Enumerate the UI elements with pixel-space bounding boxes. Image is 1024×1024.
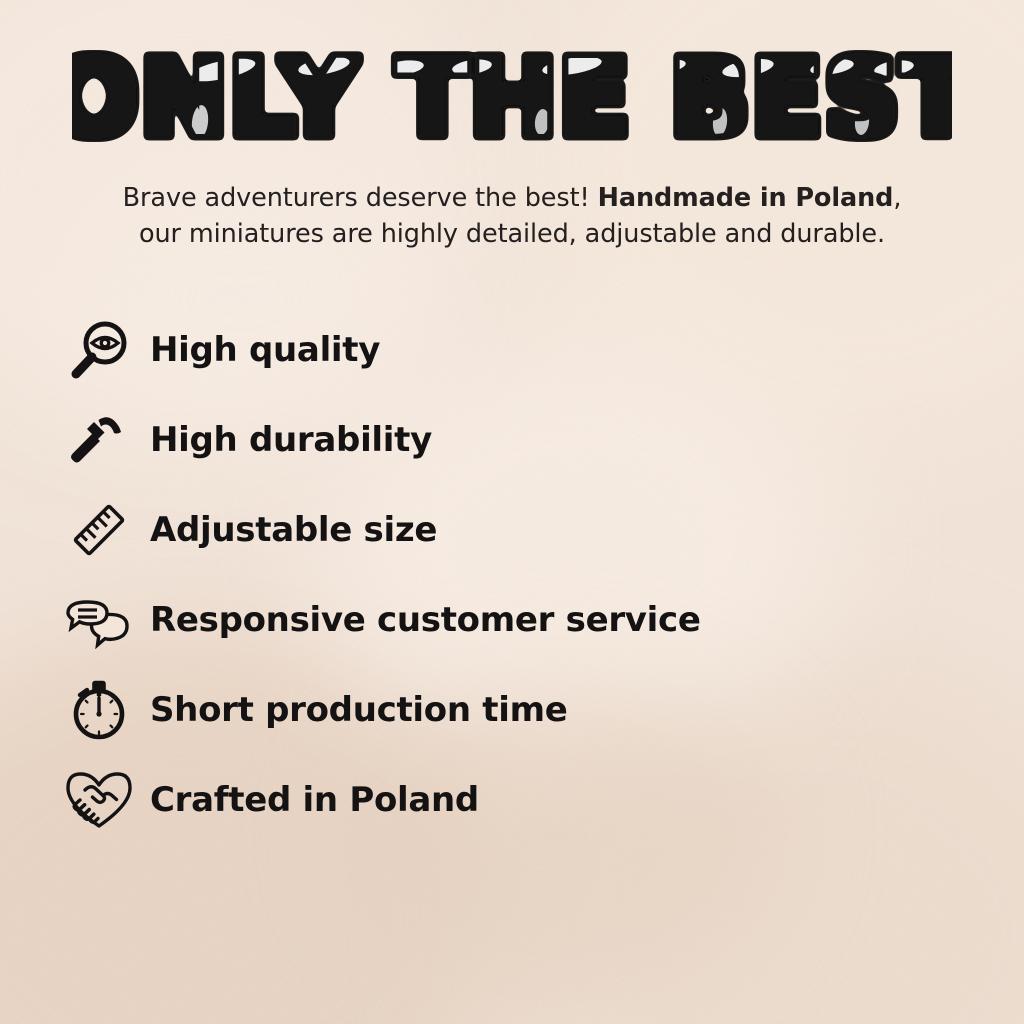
ruler-icon [62, 493, 136, 567]
feature-label: High durability [150, 420, 432, 460]
flexible-miniature-photo [516, 282, 1016, 612]
page-title: ONLY THE BEST ONLY THE BEST [0, 34, 1024, 159]
feature-label: Adjustable size [150, 510, 437, 550]
title-glyphs: ONLY THE BEST [72, 37, 952, 159]
subtitle-line2: our miniatures are highly detailed, adju… [139, 219, 885, 249]
infographic-canvas: ONLY THE BEST ONLY THE BEST [0, 0, 1024, 1024]
handshake-heart-icon [62, 763, 136, 837]
subtitle: Brave adventurers deserve the best! Hand… [0, 180, 1024, 252]
subtitle-line1-prefix: Brave adventurers deserve the best! [123, 183, 598, 213]
feature-label: Short production time [150, 690, 567, 730]
painting-workshop-photo [596, 668, 1024, 1024]
subtitle-line1-bold: Handmade in Poland [598, 183, 894, 213]
stopwatch-icon [62, 673, 136, 747]
speech-bubbles-icon [62, 583, 136, 657]
feature-label: Crafted in Poland [150, 780, 479, 820]
feature-label: High quality [150, 330, 380, 370]
subtitle-line1-suffix: , [893, 183, 901, 213]
hammer-icon [62, 403, 136, 477]
magnifier-eye-icon [62, 313, 136, 387]
